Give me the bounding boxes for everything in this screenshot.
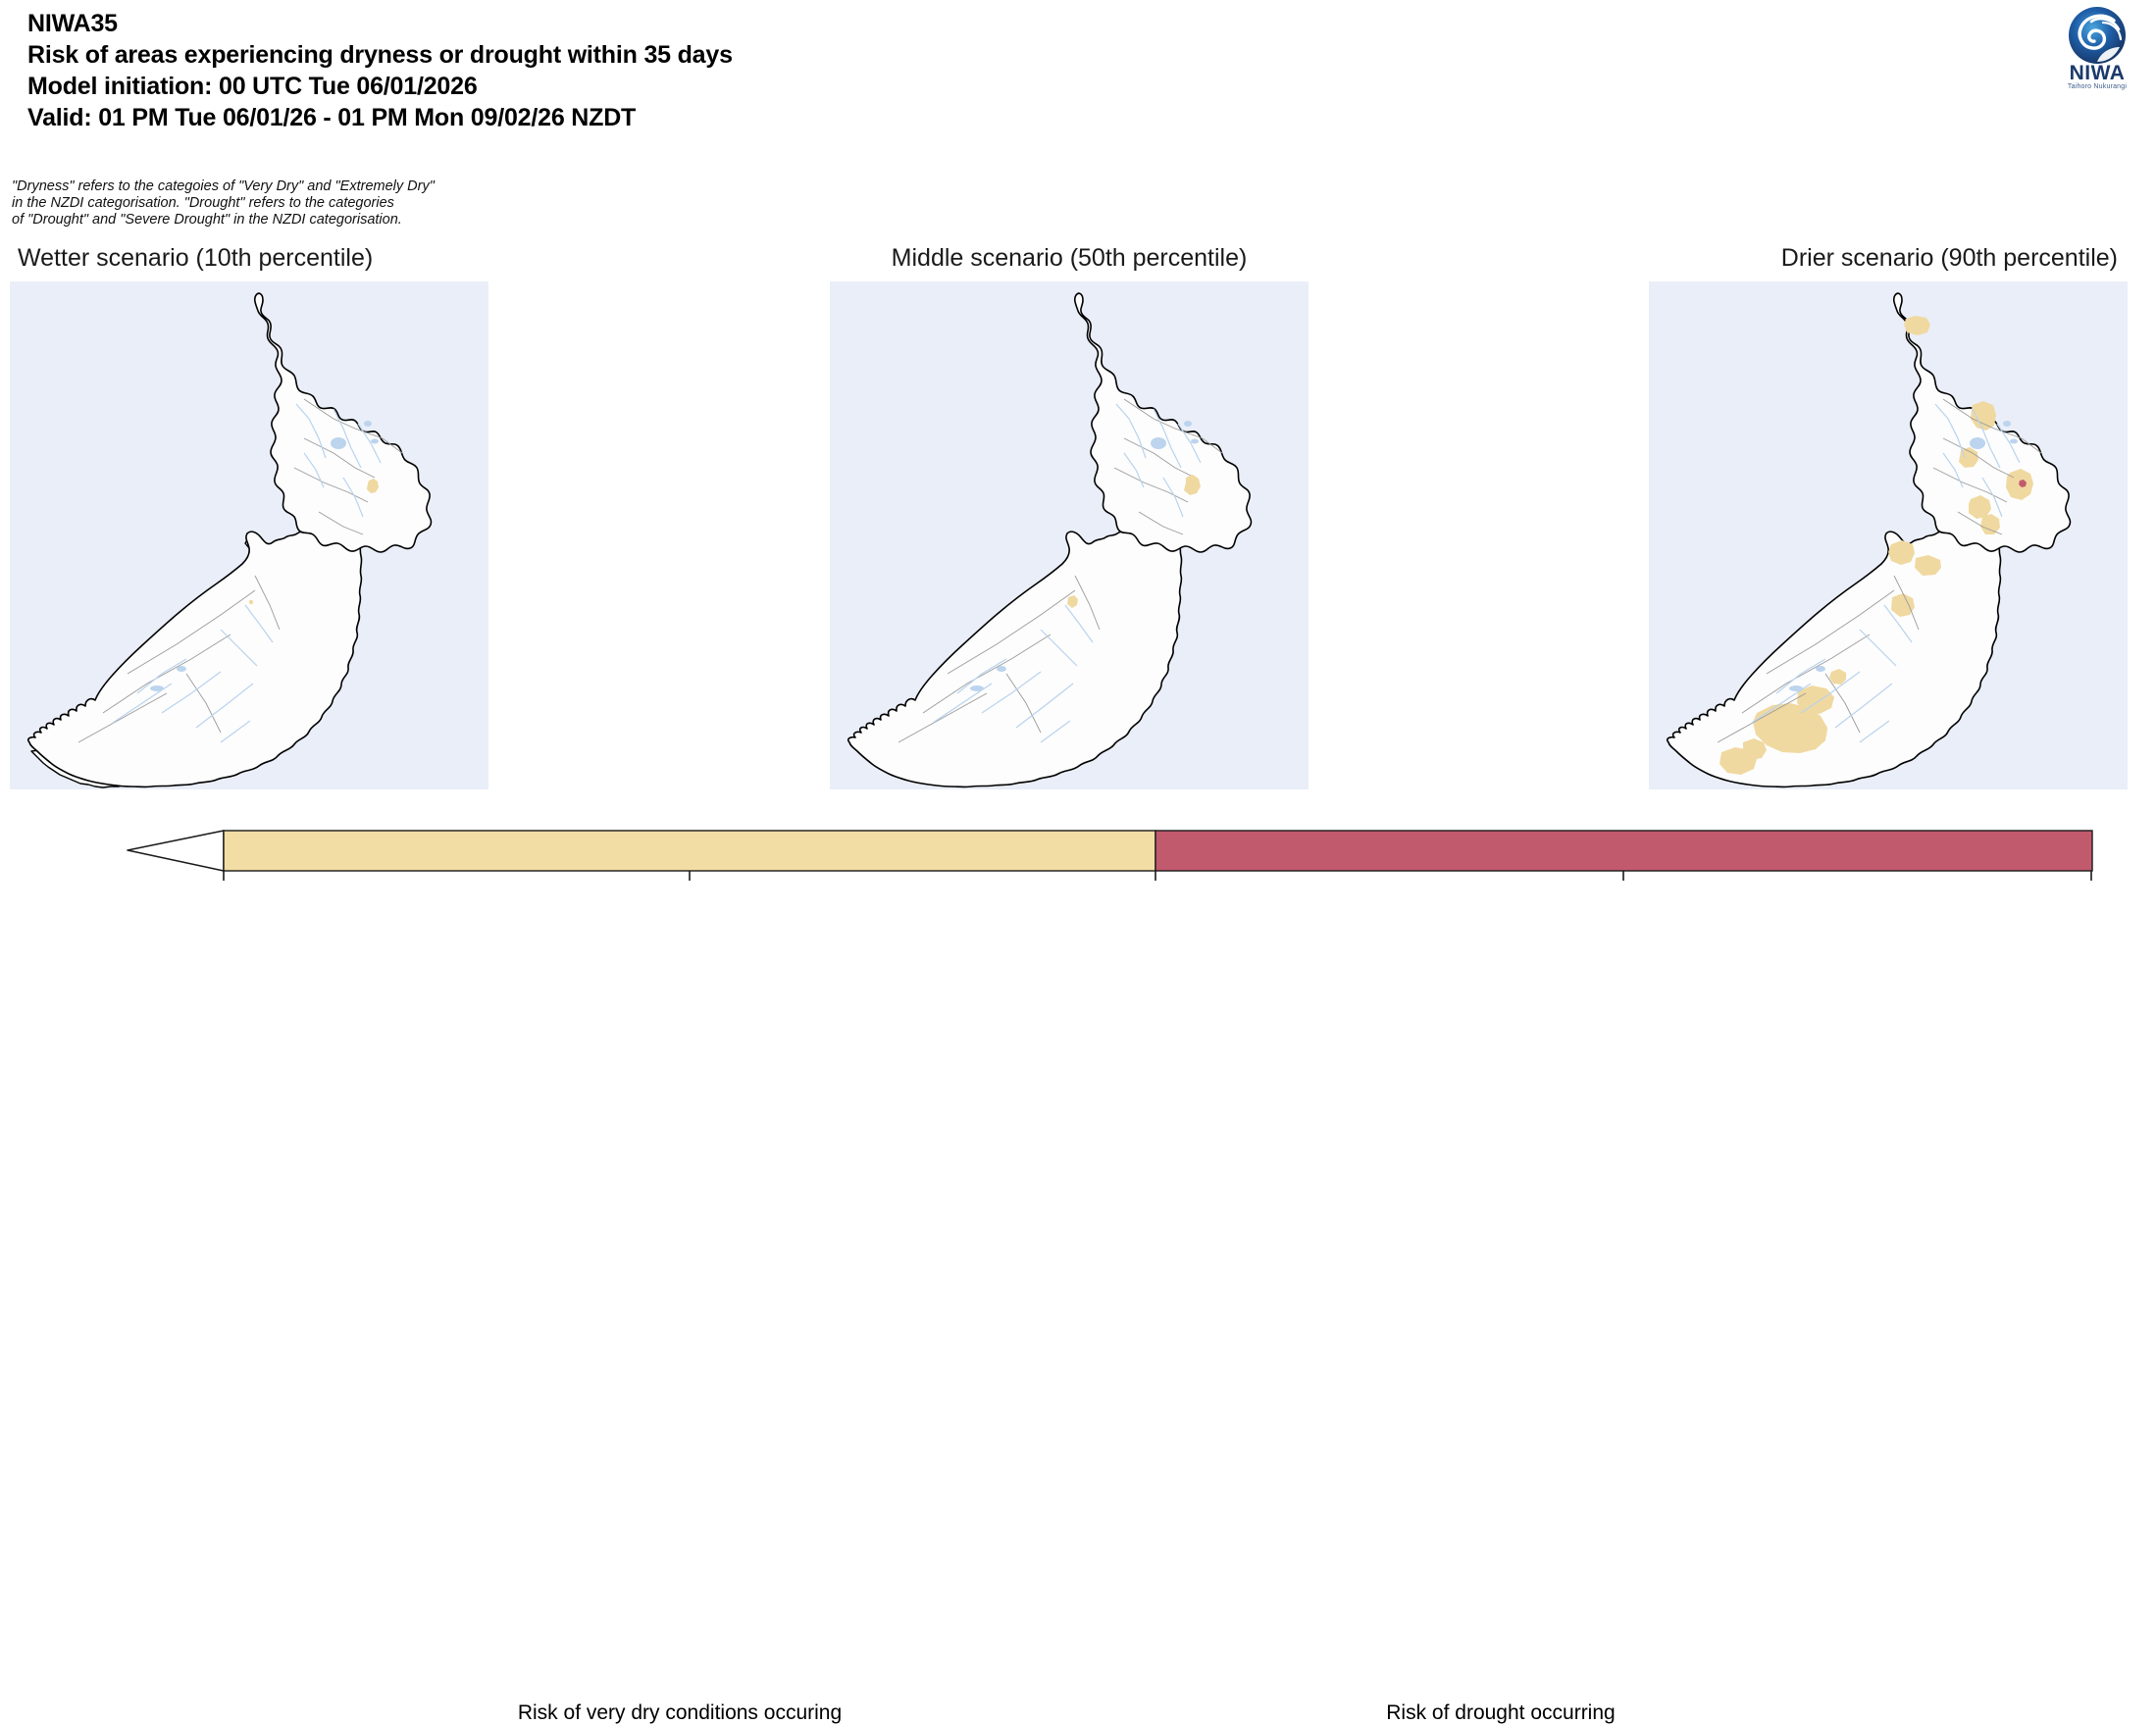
colorbar-ticks	[224, 871, 2091, 881]
panel-title-drier: Drier scenario (90th percentile)	[1639, 243, 2118, 273]
note-line-2: in the NZDI categorisation. "Drought" re…	[12, 195, 640, 212]
model-initiation: Model initiation: 00 UTC Tue 06/01/2026	[27, 71, 1499, 102]
valid-period: Valid: 01 PM Tue 06/01/26 - 01 PM Mon 09…	[27, 102, 1499, 133]
map-panel-wetter[interactable]: Wetter scenario (10th percentile)	[10, 281, 488, 789]
definition-note: "Dryness" refers to the categoies of "Ve…	[12, 178, 640, 228]
niwa-koru-icon	[2068, 6, 2127, 65]
map-canvas-middle[interactable]	[830, 281, 1309, 789]
map-panel-middle[interactable]: Middle scenario (50th percentile)	[830, 281, 1309, 789]
note-line-1: "Dryness" refers to the categoies of "Ve…	[12, 178, 640, 195]
niwa-tagline: Taihoro Nukurangi	[2050, 83, 2144, 91]
note-line-3: of "Drought" and "Severe Drought" in the…	[12, 212, 640, 228]
niwa-logo: NIWA Taihoro Nukurangi	[2050, 6, 2144, 96]
niwa-wordmark: NIWA	[2050, 63, 2144, 84]
colorbar-left-extend	[128, 831, 224, 871]
legend-label-very-dry: Risk of very dry conditions occuring	[376, 1701, 984, 1725]
panel-title-wetter: Wetter scenario (10th percentile)	[18, 243, 496, 273]
map-panel-drier[interactable]: Drier scenario (90th percentile)	[1649, 281, 2128, 789]
colorbar-very-dry-segment	[224, 831, 1155, 871]
colorbar-drought-segment	[1155, 831, 2092, 871]
map-canvas-wetter[interactable]	[10, 281, 488, 789]
header: NIWA35 Risk of areas experiencing drynes…	[27, 8, 1499, 133]
map-canvas-drier[interactable]	[1649, 281, 2128, 789]
panel-title-middle: Middle scenario (50th percentile)	[830, 243, 1309, 273]
product-code: NIWA35	[27, 8, 1499, 39]
page-title: Risk of areas experiencing dryness or dr…	[27, 39, 1499, 71]
legend-label-drought: Risk of drought occurring	[1197, 1701, 1805, 1725]
legend-colorbar[interactable]: Risk of very dry conditions occuring Ris…	[0, 824, 2156, 914]
